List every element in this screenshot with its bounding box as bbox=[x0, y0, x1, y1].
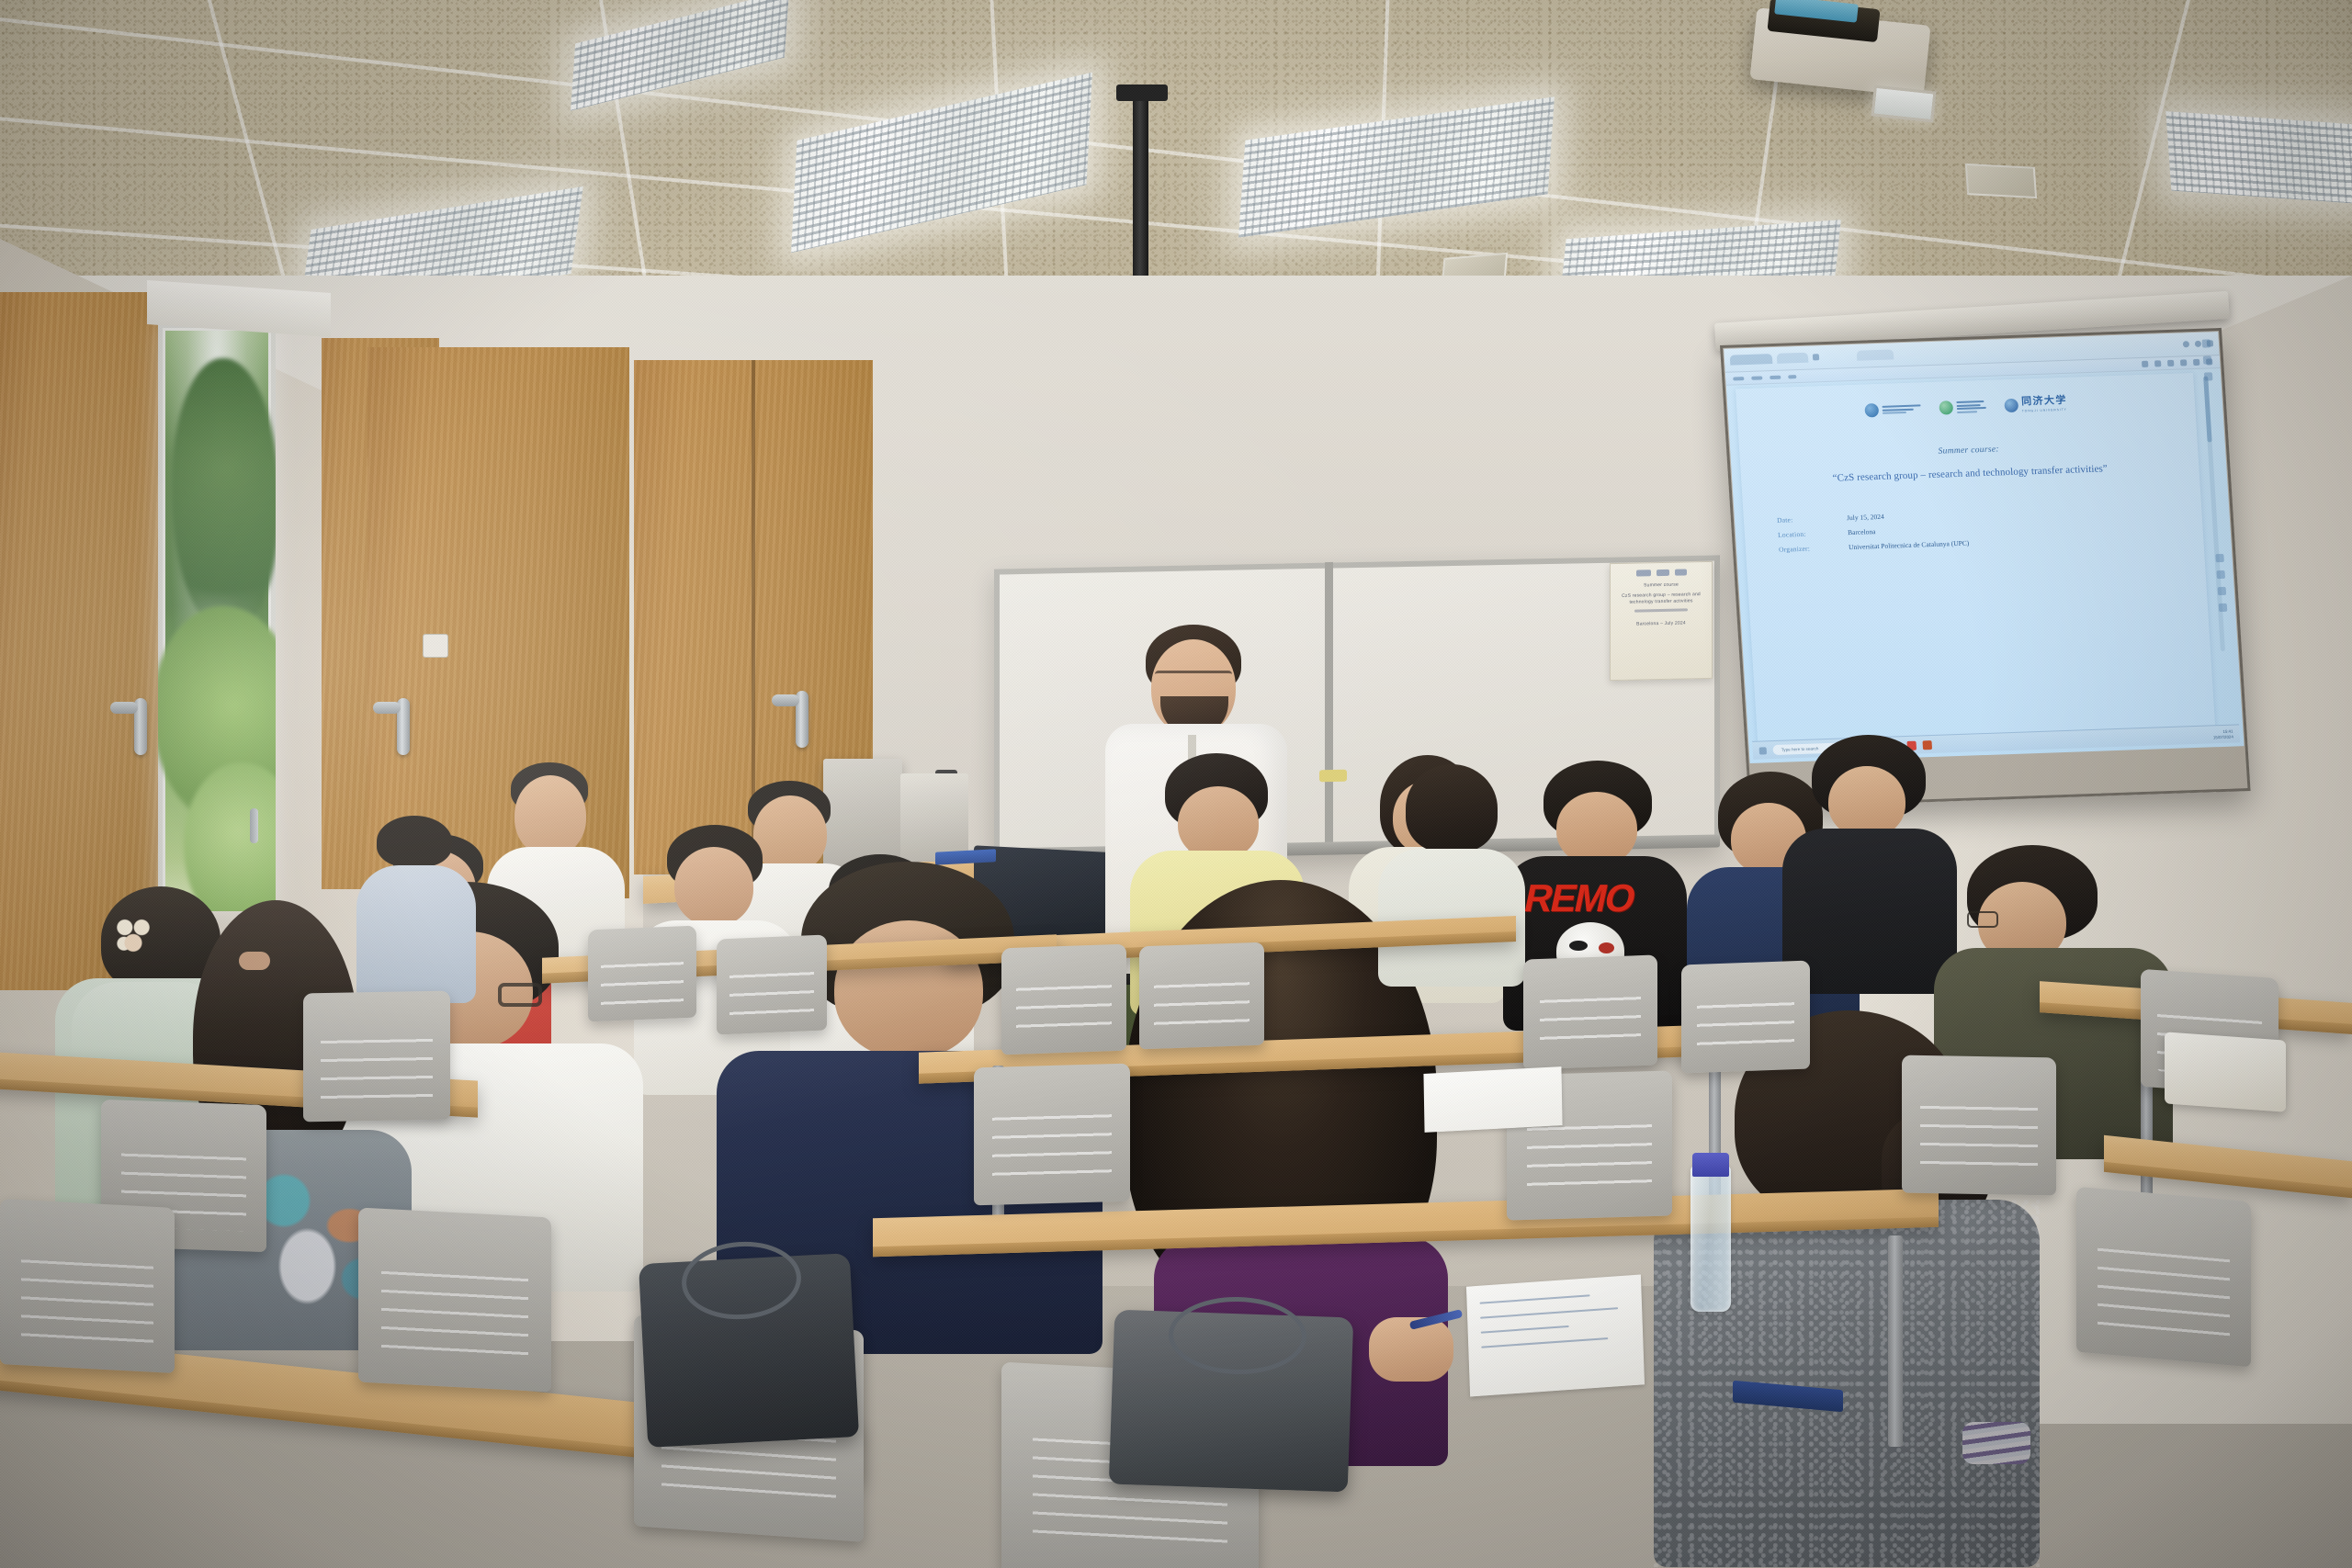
sign-logo-row bbox=[1616, 569, 1706, 577]
browser-tab[interactable] bbox=[1857, 349, 1894, 360]
classroom-chair[interactable] bbox=[1902, 1055, 2056, 1196]
help-menu-icon[interactable] bbox=[1788, 375, 1796, 378]
slide-metadata: Date: July 15, 2024 Location: Barcelona … bbox=[1777, 502, 2203, 554]
taskbar-clock[interactable]: 15:41 15/07/2024 bbox=[2212, 729, 2233, 740]
hair-tie bbox=[239, 952, 270, 970]
research-group-logo bbox=[1939, 400, 1986, 415]
classroom-chair[interactable] bbox=[717, 934, 827, 1034]
paper-line bbox=[1481, 1325, 1569, 1334]
new-tab-icon[interactable] bbox=[1813, 354, 1819, 360]
slide-document-page: 同济大学 TONGJI UNIVERSITY Summer course: “C… bbox=[1736, 373, 2215, 743]
head bbox=[514, 775, 586, 856]
projector-mount-bracket bbox=[1116, 85, 1168, 101]
tongji-logo-mark bbox=[2004, 399, 2018, 412]
research-group-wordmark bbox=[1956, 400, 1986, 413]
grid-view-icon[interactable] bbox=[2154, 360, 2161, 367]
handout-paper[interactable] bbox=[1466, 1274, 1645, 1396]
classroom-chair[interactable] bbox=[0, 1199, 175, 1373]
research-group-logo-mark bbox=[1939, 400, 1953, 414]
window-handle-icon[interactable] bbox=[250, 808, 258, 843]
classroom-chair[interactable] bbox=[1139, 942, 1264, 1050]
white-bag[interactable] bbox=[2165, 1032, 2286, 1111]
printed-wall-sign: Summer course CzS research group – resea… bbox=[1610, 561, 1713, 681]
water-bottle[interactable] bbox=[1690, 1165, 1731, 1312]
taskbar-clock-date: 15/07/2024 bbox=[2213, 734, 2233, 739]
slide-meta-value: Barcelona bbox=[1848, 527, 1876, 536]
handout-paper[interactable] bbox=[1423, 1066, 1562, 1133]
lecture-desk-monitor bbox=[900, 773, 968, 862]
hair bbox=[377, 816, 452, 867]
head bbox=[1828, 766, 1905, 838]
slide-meta-value: July 15, 2024 bbox=[1847, 513, 1884, 522]
glasses-icon bbox=[498, 983, 542, 1007]
wood-grain-texture bbox=[0, 292, 161, 990]
tongji-logo-latin: TONGJI UNIVERSITY bbox=[2022, 408, 2068, 413]
upc-logo-mark bbox=[1864, 403, 1879, 417]
classroom-chair[interactable] bbox=[1523, 954, 1657, 1069]
left-wood-door[interactable] bbox=[0, 292, 161, 990]
door-handle-icon[interactable] bbox=[796, 691, 808, 748]
exit-sign bbox=[423, 634, 448, 658]
door-handle-icon[interactable] bbox=[397, 698, 410, 755]
upc-logo-wordmark bbox=[1882, 404, 1921, 414]
search-icon[interactable] bbox=[2183, 341, 2189, 347]
desk-leg bbox=[1888, 1235, 1903, 1447]
student-dark-shirt-back-right bbox=[1782, 735, 1957, 983]
classroom-photo-scene: Summer course CzS research group – resea… bbox=[0, 0, 2352, 1568]
sign-heading: Summer course bbox=[1616, 581, 1706, 591]
torso bbox=[356, 865, 476, 1003]
skull-eye bbox=[1599, 942, 1614, 953]
sidebar-tool-icon[interactable] bbox=[2218, 604, 2227, 612]
browser-tab[interactable] bbox=[1777, 353, 1809, 364]
paper-line bbox=[1481, 1337, 1608, 1348]
upc-logo bbox=[1864, 401, 1921, 417]
sidebar-tool-icon[interactable] bbox=[2203, 372, 2212, 380]
slide-meta-key: Date: bbox=[1777, 513, 1848, 525]
slide-logo-row: 同济大学 TONGJI UNIVERSITY bbox=[1736, 391, 2195, 423]
sidebar-tool-icon[interactable] bbox=[2216, 570, 2225, 579]
classroom-chair[interactable] bbox=[2076, 1187, 2251, 1368]
head bbox=[1556, 792, 1637, 865]
tongji-university-logo: 同济大学 TONGJI UNIVERSITY bbox=[2004, 396, 2068, 413]
view-menu-icon[interactable] bbox=[1770, 375, 1781, 378]
slide-meta-key: Organizer: bbox=[1779, 543, 1849, 554]
classroom-chair[interactable] bbox=[1001, 944, 1126, 1055]
student-blue-shirt-backpack bbox=[356, 816, 476, 999]
glasses-icon bbox=[1967, 911, 1998, 928]
water-bottle-cap[interactable] bbox=[1692, 1153, 1729, 1177]
browser-tab[interactable] bbox=[1730, 354, 1773, 366]
slide-meta-value: Universitat Politecnica de Catalunya (UP… bbox=[1849, 539, 1970, 552]
sign-footer: Barcelona – July 2024 bbox=[1616, 619, 1706, 628]
classroom-chair[interactable] bbox=[974, 1064, 1130, 1206]
sidebar-tool-icon[interactable] bbox=[2201, 339, 2211, 347]
sidebar-tool-icon[interactable] bbox=[2217, 587, 2226, 595]
whiteboard-marker[interactable] bbox=[1319, 770, 1347, 783]
classroom-chair[interactable] bbox=[1681, 961, 1810, 1074]
classroom-chair[interactable] bbox=[303, 991, 450, 1122]
edit-menu-icon[interactable] bbox=[1751, 376, 1762, 379]
classroom-chair[interactable] bbox=[358, 1207, 551, 1392]
sidebar-tool-icon[interactable] bbox=[2202, 355, 2211, 364]
zoom-icon[interactable] bbox=[2142, 361, 2148, 367]
paper-line bbox=[1480, 1294, 1590, 1303]
file-menu-icon[interactable] bbox=[1733, 377, 1744, 380]
sidebar-tool-icon[interactable] bbox=[2215, 554, 2224, 562]
presenter-glasses-icon bbox=[1155, 671, 1232, 682]
head bbox=[1178, 786, 1259, 860]
slide-eyebrow: Summer course: bbox=[1739, 438, 2198, 463]
door-handle-icon[interactable] bbox=[134, 698, 147, 755]
slide-title: “CzS research group – research and techn… bbox=[1769, 460, 2172, 489]
share-icon[interactable] bbox=[2167, 360, 2174, 367]
projector-recessed-downlight bbox=[1871, 85, 1936, 123]
sign-subheading: CzS research group – research and techno… bbox=[1616, 591, 1706, 606]
skull-eye bbox=[1569, 941, 1588, 951]
print-icon[interactable] bbox=[2180, 359, 2187, 366]
ceiling-vent bbox=[1965, 164, 2037, 198]
tongji-logo-cjk: 同济大学 bbox=[2021, 396, 2067, 408]
paper-line bbox=[1480, 1307, 1618, 1318]
tshirt-graffiti-graphic: RЕМО bbox=[1521, 876, 1638, 920]
hair bbox=[1406, 764, 1498, 852]
bracelets bbox=[1962, 1422, 2030, 1464]
slide-meta-key: Location: bbox=[1778, 528, 1849, 539]
tree-foliage bbox=[171, 358, 276, 634]
classroom-chair[interactable] bbox=[588, 926, 696, 1022]
projected-slide: 同济大学 TONGJI UNIVERSITY Summer course: “C… bbox=[1724, 332, 2244, 763]
whiteboard-panel-divider bbox=[1325, 562, 1333, 854]
start-button-icon[interactable] bbox=[1759, 747, 1768, 754]
